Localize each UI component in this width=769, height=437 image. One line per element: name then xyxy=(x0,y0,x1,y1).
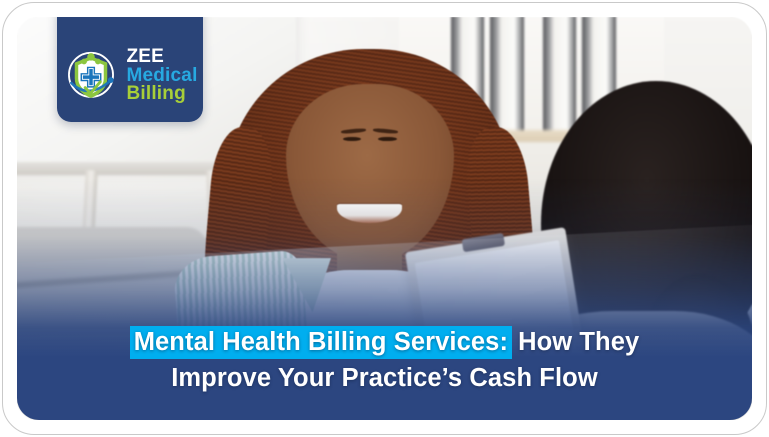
hero-photo: Mental Health Billing Services:How They … xyxy=(17,17,752,420)
logo-text-billing: Billing xyxy=(126,85,197,104)
logo-text-zee: ZEE xyxy=(126,48,197,67)
client-eye-left xyxy=(343,137,361,142)
shield-medical-cross-icon xyxy=(62,47,120,105)
featured-image-banner: Mental Health Billing Services:How They … xyxy=(0,0,769,437)
title-line-1: Mental Health Billing Services:How They xyxy=(45,324,724,360)
brand-logo-badge[interactable]: ZEE Medical Billing xyxy=(57,17,203,122)
title-highlight: Mental Health Billing Services: xyxy=(130,326,512,359)
client-eyebrow-left xyxy=(341,127,366,133)
title-line-2: Improve Your Practice’s Cash Flow xyxy=(45,360,724,396)
client-eyebrow-right xyxy=(373,127,398,133)
logo-wordmark: ZEE Medical Billing xyxy=(126,48,197,104)
title-line-1-rest: How They xyxy=(512,328,639,356)
banner-title: Mental Health Billing Services:How They … xyxy=(17,324,752,396)
client-eye-right xyxy=(378,137,396,142)
